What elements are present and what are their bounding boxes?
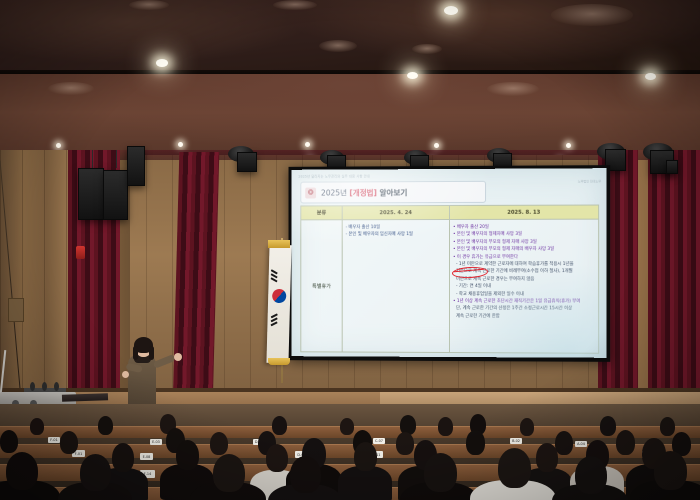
audience-head xyxy=(176,440,199,470)
ceiling-light-dim xyxy=(48,82,94,95)
audience-head xyxy=(266,444,288,472)
flower-stamp-icon: ❂ xyxy=(305,187,316,198)
table-row: 특별휴가 - 배우자 출산 10일 - 본인 및 배우자의 임신자매 사망 1일… xyxy=(301,220,598,353)
table-header-cell: 2025. 8. 13 xyxy=(450,206,598,219)
ceiling-light-dim xyxy=(487,82,539,96)
equipment-knob xyxy=(42,382,47,391)
audience-head xyxy=(396,432,414,455)
audience-head xyxy=(6,452,38,490)
flag-fringe-bottom xyxy=(268,358,290,365)
audience-head xyxy=(112,443,134,472)
seat-number-label: A-04 xyxy=(575,441,587,447)
trigram-mark xyxy=(270,321,277,326)
audience-area: F-01 E-03 D-05 C-07 B-02 A-04 F-01 E-08 … xyxy=(0,404,700,500)
hanging-speaker xyxy=(103,170,128,220)
audience-shoulders xyxy=(338,466,392,500)
korean-national-flag xyxy=(266,245,291,364)
ceiling-light-dim xyxy=(129,0,169,10)
audience-head xyxy=(80,454,111,491)
slide-title-suffix: 알아보기 xyxy=(377,188,407,197)
presenter-hair-side xyxy=(149,346,154,360)
stage-curtain xyxy=(173,152,220,407)
audience-head xyxy=(30,418,44,435)
hanging-speaker xyxy=(237,152,257,172)
ceiling-light-dim xyxy=(273,0,317,10)
seat-number-label: B-02 xyxy=(510,438,522,444)
taeguk-symbol xyxy=(270,287,289,306)
bullet-line: - 기간: 연 4일 이내 xyxy=(453,283,595,291)
audience-head xyxy=(600,416,616,436)
fire-alarm-box xyxy=(76,246,85,259)
audience-head xyxy=(210,432,228,455)
seat-number-label: F-01 xyxy=(48,437,60,443)
equipment-knob xyxy=(54,382,59,391)
seat-number-label: C-07 xyxy=(373,438,385,444)
bullet-line: • 본인 및 배우자의 부모의 형제 자매 사망 3일 xyxy=(453,239,595,247)
audience-head xyxy=(213,454,245,492)
bullet-line: • 본인 및 배우자의 부모의 형제 자매의 배우자 사망 3일 xyxy=(453,246,595,254)
downlight xyxy=(178,142,183,147)
bullet-line: 기준으로 계속 근로한 기간에 비례부여(소수점 이하 절사), 1개월 xyxy=(453,268,595,276)
audience-head xyxy=(340,418,354,435)
audience-head xyxy=(575,456,607,494)
slide-table: 분류 2025. 4. 24 2025. 8. 13 특별휴가 - 배우자 출산… xyxy=(300,205,599,354)
ceiling-light-dim xyxy=(551,4,633,26)
table-cell-right: • 배우자 출산 20일 • 본인 및 배우자의 형제자매 사망 3일 • 본인… xyxy=(450,220,598,353)
slide-header-note: 2025년 달라지는 노무관리와 실무 대응 사항 안내 xyxy=(298,172,598,180)
hanging-speaker-small xyxy=(666,160,678,174)
flag-fringe-top xyxy=(268,240,290,248)
ceiling-light-dim xyxy=(319,40,357,52)
presenter-right-hand xyxy=(174,353,182,361)
audience-head xyxy=(616,430,635,455)
audience-head xyxy=(272,416,287,435)
slide-header-right: 노무법인 한국노무 xyxy=(578,179,601,183)
audience-head xyxy=(536,443,558,472)
audience-head xyxy=(0,430,18,453)
audience-head xyxy=(60,431,78,454)
bullet-line: 계속 근로한 기간에 한함 xyxy=(453,313,595,321)
ceiling-light xyxy=(156,59,168,67)
hanging-speaker xyxy=(127,146,145,186)
downlight xyxy=(566,143,571,148)
table-header-cell: 분류 xyxy=(301,206,342,219)
ceiling-light xyxy=(444,6,458,15)
audience-head xyxy=(438,417,453,436)
presenter-hair-side xyxy=(133,346,138,360)
audience-head xyxy=(498,448,531,488)
audience-head xyxy=(555,431,573,455)
slide-title: 2025년 [개정법] 알아보기 xyxy=(321,187,407,198)
ceiling-light xyxy=(407,72,418,79)
audience-head xyxy=(424,453,457,492)
seat-number-label: E-08 xyxy=(140,453,153,460)
audience-head xyxy=(660,417,675,436)
downlight xyxy=(305,142,310,147)
audience-head xyxy=(466,430,485,455)
hanging-speaker xyxy=(78,168,104,220)
ceiling-light-dim xyxy=(412,44,442,54)
bullet-line: 미만으로 계속 근로한 경우는 부여하지 않음 xyxy=(453,276,595,284)
downlight xyxy=(434,143,439,148)
audience-head xyxy=(654,451,687,490)
slide-title-highlight: [개정법] xyxy=(349,188,377,197)
presentation-slide: 2025년 달라지는 노무관리와 실무 대응 사항 안내 노무법인 한국노무 ❂… xyxy=(291,168,606,358)
audience-head xyxy=(290,456,321,493)
speaker-hanger-wire xyxy=(92,150,93,168)
table-row-label: 특별휴가 xyxy=(301,220,342,351)
slide-title-box: ❂ 2025년 [개정법] 알아보기 xyxy=(300,181,486,204)
bullet-line: - 1년 미만으로 계약한 근로자에 대하여 학습휴가를 적용시 1년을 xyxy=(453,261,595,268)
slide-title-prefix: 2025년 xyxy=(321,188,349,197)
seat-number-label: E-03 xyxy=(150,439,162,445)
table-header-cell: 2025. 4. 24 xyxy=(343,206,450,219)
table-cell-left: - 배우자 출산 10일 - 본인 및 배우자의 임신자매 사망 1일 xyxy=(343,220,450,352)
stage-curtain xyxy=(648,150,700,400)
speaker-hanger-wire xyxy=(116,150,117,168)
audience-head xyxy=(354,442,377,471)
bullet-line: • 이 경우 휴가는 유급으로 부여한다 xyxy=(453,254,595,261)
downlight xyxy=(56,143,61,148)
ceiling-light xyxy=(645,73,656,80)
equipment-knob xyxy=(30,382,35,391)
auditorium-photo: 2025년 달라지는 노무관리와 실무 대응 사항 안내 노무법인 한국노무 ❂… xyxy=(0,0,700,500)
projection-screen: 2025년 달라지는 노무관리와 실무 대응 사항 안내 노무법인 한국노무 ❂… xyxy=(291,168,606,358)
audience-head xyxy=(98,416,113,435)
wall-panel-plate xyxy=(8,298,24,322)
audience-head xyxy=(520,418,534,436)
presenter-left-hand xyxy=(122,371,129,378)
table-header-row: 분류 2025. 4. 24 2025. 8. 13 xyxy=(301,206,598,221)
bullet-line: - 본인 및 배우자의 임신자매 사망 1일 xyxy=(346,231,446,239)
